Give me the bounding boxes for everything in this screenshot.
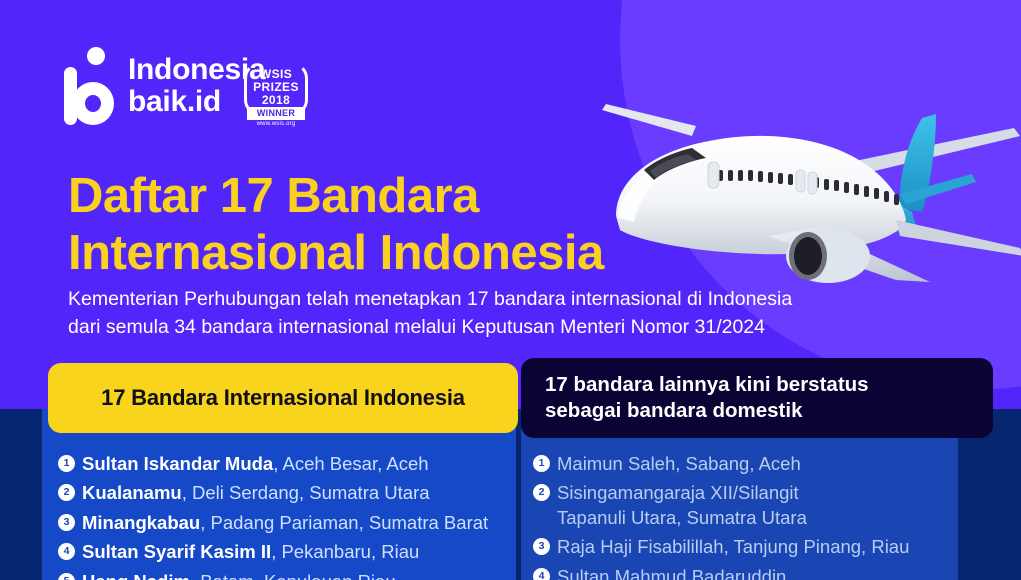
list-item: 1Sultan Iskandar Muda, Aceh Besar, Aceh: [58, 452, 518, 476]
list-item-label: Raja Haji Fisabilillah, Tanjung Pinang, …: [557, 535, 909, 559]
list-item-number-badge: 1: [58, 455, 75, 472]
airport-location: , Pekanbaru, Riau: [271, 541, 419, 562]
infographic-poster: Indonesia baik.id WSIS PRIZES 2018 WINNE…: [0, 0, 1021, 580]
list-item-number-badge: 1: [533, 455, 550, 472]
list-item-label: Sisingamangaraja XII/SilangitTapanuli Ut…: [557, 481, 807, 530]
list-item-label: Sultan Mahmud Badaruddin,: [557, 565, 791, 580]
airport-name: Hang Nadim: [82, 571, 190, 580]
badge-line3: 2018: [243, 93, 309, 107]
left-column-heading: 17 Bandara Internasional Indonesia: [48, 363, 518, 433]
list-item-label: Sultan Syarif Kasim II, Pekanbaru, Riau: [82, 540, 419, 564]
brand-logo: Indonesia baik.id: [62, 45, 265, 127]
badge-ribbon: WINNER: [247, 107, 305, 120]
page-subtitle-line2: dari semula 34 bandara internasional mel…: [68, 314, 968, 342]
list-item-number-badge: 5: [58, 573, 75, 580]
badge-line2: PRIZES: [243, 80, 309, 94]
left-airport-list: 1Sultan Iskandar Muda, Aceh Besar, Aceh2…: [58, 452, 518, 580]
right-column-heading: 17 bandara lainnya kini berstatus sebaga…: [521, 358, 993, 438]
list-item-number-badge: 4: [533, 568, 550, 580]
airport-location: , Aceh Besar, Aceh: [273, 453, 428, 474]
airport-location: , Padang Pariaman, Sumatra Barat: [200, 512, 488, 533]
airport-name: Sultan Syarif Kasim II: [82, 541, 271, 562]
list-item: 5Hang Nadim, Batam, Kepulauan Riau: [58, 570, 518, 580]
airport-entry-line1: Sultan Mahmud Badaruddin,: [557, 566, 791, 580]
airport-location: , Batam, Kepulauan Riau: [190, 571, 396, 580]
list-item: 2Sisingamangaraja XII/SilangitTapanuli U…: [533, 481, 988, 530]
airport-name: Kualanamu: [82, 482, 182, 503]
list-item-number-badge: 4: [58, 543, 75, 560]
list-item: 3Minangkabau, Padang Pariaman, Sumatra B…: [58, 511, 518, 535]
airport-name: Sultan Iskandar Muda: [82, 453, 273, 474]
right-column-heading-line1: 17 bandara lainnya kini berstatus: [545, 372, 969, 398]
list-item-number-badge: 3: [58, 514, 75, 531]
page-subtitle-line1: Kementerian Perhubungan telah menetapkan…: [68, 286, 968, 314]
badge-url: www.wsis.org: [243, 121, 309, 127]
airport-entry-line1: Maimun Saleh, Sabang, Aceh: [557, 453, 801, 474]
airport-entry-line2: Tapanuli Utara, Sumatra Utara: [557, 506, 807, 530]
list-item: 2Kualanamu, Deli Serdang, Sumatra Utara: [58, 481, 518, 505]
list-item-label: Minangkabau, Padang Pariaman, Sumatra Ba…: [82, 511, 488, 535]
list-item-label: Hang Nadim, Batam, Kepulauan Riau: [82, 570, 396, 580]
airport-location: , Deli Serdang, Sumatra Utara: [182, 482, 430, 503]
list-item: 1Maimun Saleh, Sabang, Aceh: [533, 452, 988, 476]
list-item: 4Sultan Syarif Kasim II, Pekanbaru, Riau: [58, 540, 518, 564]
wsis-award-badge-icon: WSIS PRIZES 2018 WINNER www.wsis.org: [243, 57, 309, 131]
page-title-line2: Internasional Indonesia: [68, 225, 728, 282]
list-item-label: Kualanamu, Deli Serdang, Sumatra Utara: [82, 481, 430, 505]
badge-line1: WSIS: [243, 67, 309, 81]
airport-name: Minangkabau: [82, 512, 200, 533]
right-column-heading-line2: sebagai bandara domestik: [545, 398, 969, 424]
list-item-number-badge: 3: [533, 538, 550, 555]
list-item-number-badge: 2: [533, 484, 550, 501]
airport-entry-line1: Raja Haji Fisabilillah, Tanjung Pinang, …: [557, 536, 909, 557]
page-subtitle: Kementerian Perhubungan telah menetapkan…: [68, 286, 968, 342]
page-title: Daftar 17 Bandara Internasional Indonesi…: [68, 168, 728, 282]
list-item: 4Sultan Mahmud Badaruddin,: [533, 565, 988, 580]
airport-entry-line1: Sisingamangaraja XII/Silangit: [557, 482, 799, 503]
baik-b-logo-icon: [62, 45, 114, 127]
list-item-number-badge: 2: [58, 484, 75, 501]
list-item-label: Sultan Iskandar Muda, Aceh Besar, Aceh: [82, 452, 429, 476]
list-item: 3Raja Haji Fisabilillah, Tanjung Pinang,…: [533, 535, 988, 559]
right-airport-list: 1Maimun Saleh, Sabang, Aceh2Sisingamanga…: [533, 452, 988, 580]
list-item-label: Maimun Saleh, Sabang, Aceh: [557, 452, 801, 476]
page-title-line1: Daftar 17 Bandara: [68, 168, 728, 225]
